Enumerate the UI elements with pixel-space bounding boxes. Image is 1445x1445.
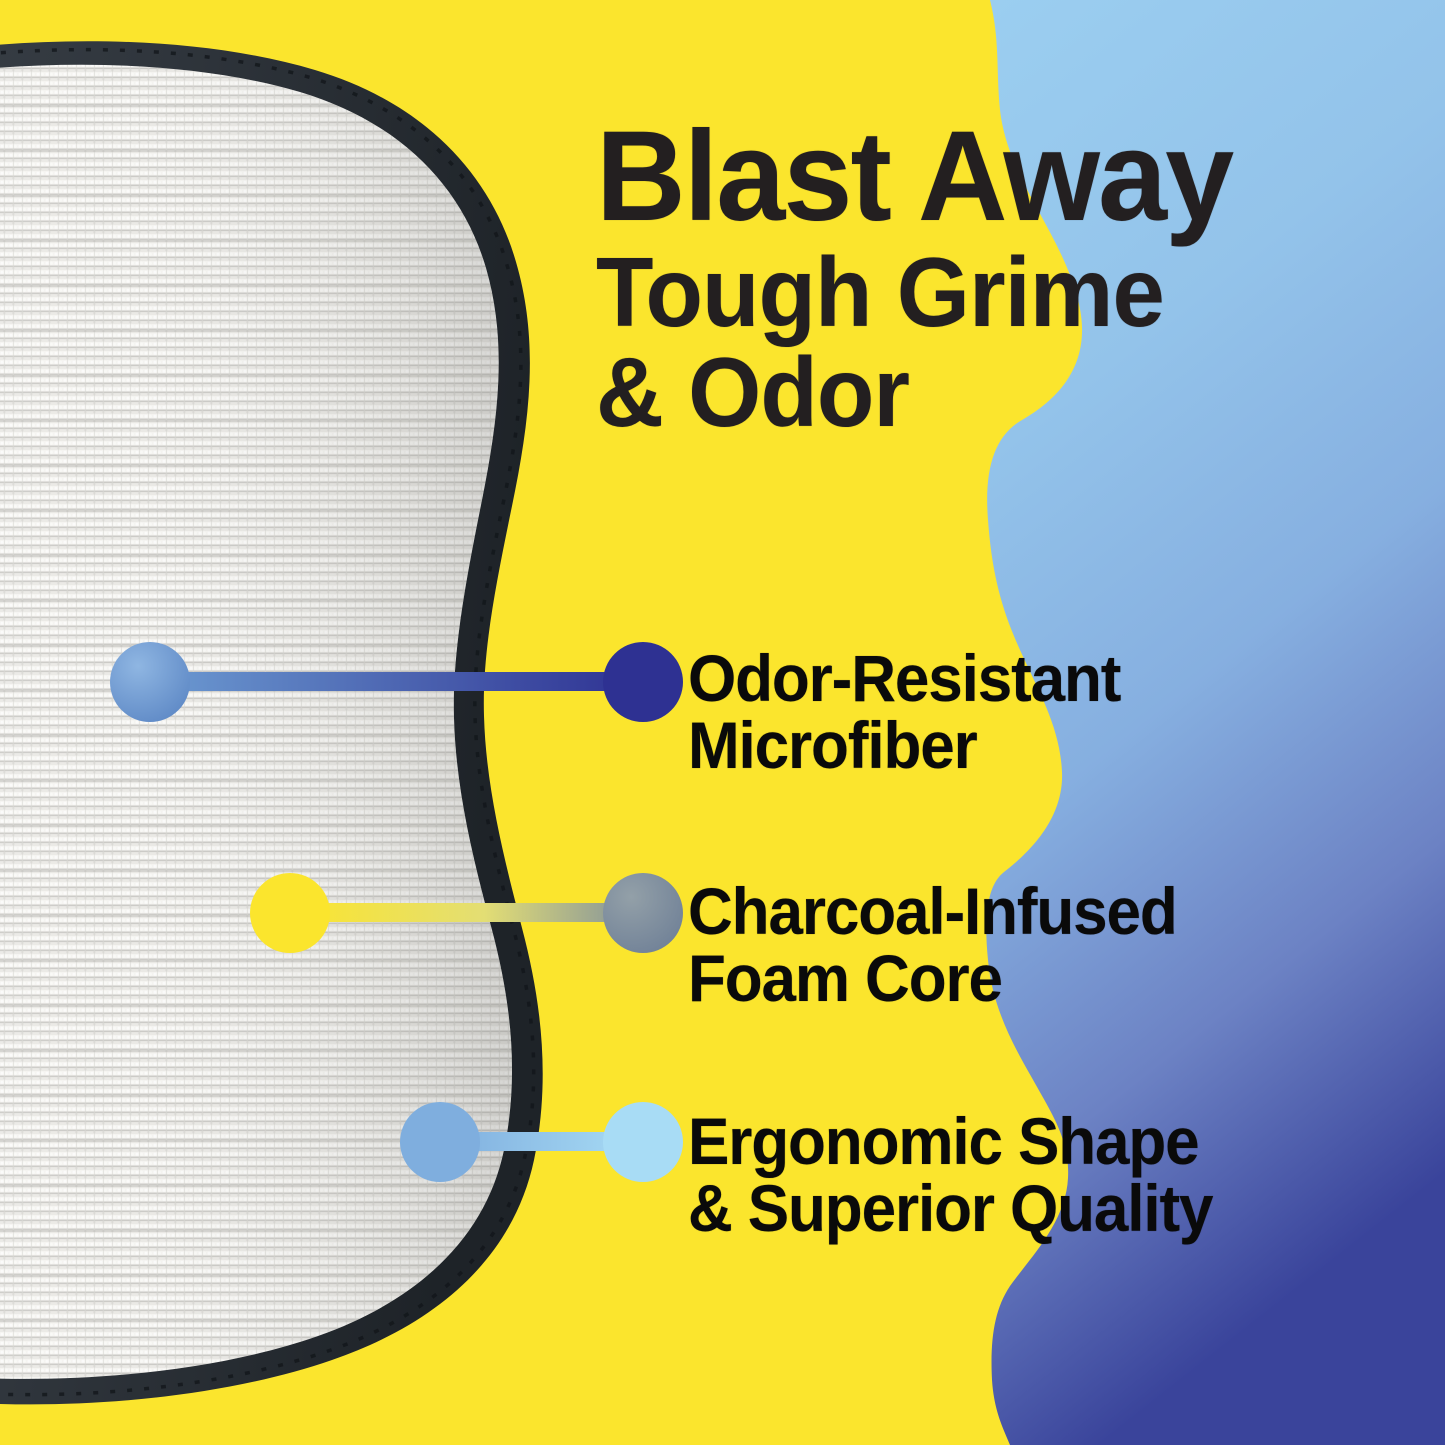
feature-label-charcoal-infused-foam-core: Charcoal-Infused Foam Core <box>688 878 1402 1013</box>
callout-dot-right-1 <box>603 642 683 722</box>
connector-ergonomic-shape-superior-quality <box>400 1102 683 1182</box>
feature-1-line-2: Microfiber <box>688 712 1402 779</box>
connector-charcoal-infused-foam-core <box>250 873 683 953</box>
feature-3-line-2: & Superior Quality <box>688 1175 1402 1242</box>
headline-line-3: & Odor <box>596 345 1364 439</box>
headline: Blast Away Tough Grime & Odor <box>596 116 1396 439</box>
feature-3-line-1: Ergonomic Shape <box>688 1108 1402 1175</box>
callout-dot-left-2 <box>250 873 330 953</box>
headline-line-2: Tough Grime <box>596 245 1364 339</box>
feature-1-line-1: Odor-Resistant <box>688 645 1402 712</box>
feature-2-line-1: Charcoal-Infused <box>688 878 1402 945</box>
connector-odor-resistant-microfiber <box>110 642 683 722</box>
feature-2-line-2: Foam Core <box>688 945 1402 1012</box>
feature-label-odor-resistant-microfiber: Odor-Resistant Microfiber <box>688 645 1402 780</box>
callout-dot-right-3 <box>603 1102 683 1182</box>
callout-dot-right-2 <box>603 873 683 953</box>
feature-label-ergonomic-shape-superior-quality: Ergonomic Shape & Superior Quality <box>688 1108 1402 1243</box>
callout-dot-left-1 <box>110 642 190 722</box>
product-infographic: Blast Away Tough Grime & Odor Odor-Resis… <box>0 0 1445 1445</box>
headline-line-1: Blast Away <box>596 116 1372 239</box>
callout-dot-left-3 <box>400 1102 480 1182</box>
